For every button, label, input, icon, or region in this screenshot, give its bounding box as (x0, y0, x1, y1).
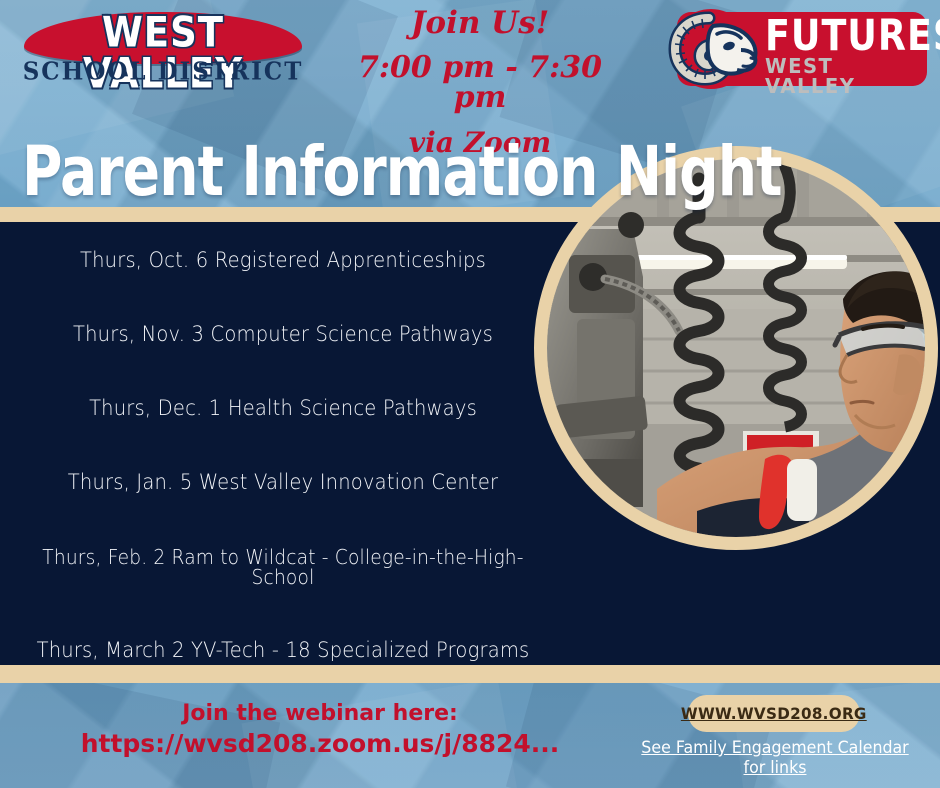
list-item: Thurs, Oct. 6 Registered Apprenticeships (20, 250, 546, 271)
webinar-label: Join the webinar here: (80, 700, 560, 728)
futures-logo-subtitle: WEST VALLEY (765, 56, 918, 96)
futures-logo-title: FUTURES (765, 14, 915, 57)
events-list: Thurs, Oct. 6 Registered Apprenticeships… (0, 232, 566, 661)
ram-head-icon (665, 8, 761, 90)
join-us-text: Join Us! (330, 8, 630, 39)
poster-root: WEST VALLEY SCHOOL DISTRICT Join Us! 7:0… (0, 0, 940, 788)
page-title: Parent Information Night (22, 138, 782, 206)
list-item: Thurs, March 2 YV-Tech - 18 Specialized … (20, 640, 546, 661)
calendar-link[interactable]: See Family Engagement Calendar for links (631, 738, 919, 778)
list-item: Thurs, Feb. 2 Ram to Wildcat - College-i… (20, 547, 546, 587)
webinar-url[interactable]: https://wvsd208.zoom.us/j/8824... (80, 728, 560, 759)
event-time-text: 7:00 pm - 7:30 pm (330, 53, 630, 113)
website-button[interactable]: WWW.WVSD208.ORG (688, 695, 860, 732)
list-item: Thurs, Jan. 5 West Valley Innovation Cen… (20, 472, 546, 493)
list-item: Thurs, Nov. 3 Computer Science Pathways (20, 324, 546, 345)
webinar-info: Join the webinar here: https://wvsd208.z… (80, 700, 560, 759)
futures-logo: FUTURES WEST VALLEY (665, 10, 927, 90)
website-button-label: WWW.WVSD208.ORG (681, 704, 867, 723)
divider-band-bottom (0, 665, 940, 683)
list-item: Thurs, Dec. 1 Health Science Pathways (20, 398, 546, 419)
district-logo: WEST VALLEY SCHOOL DISTRICT (18, 8, 308, 96)
district-logo-bottom-text: SCHOOL DISTRICT (18, 59, 308, 83)
